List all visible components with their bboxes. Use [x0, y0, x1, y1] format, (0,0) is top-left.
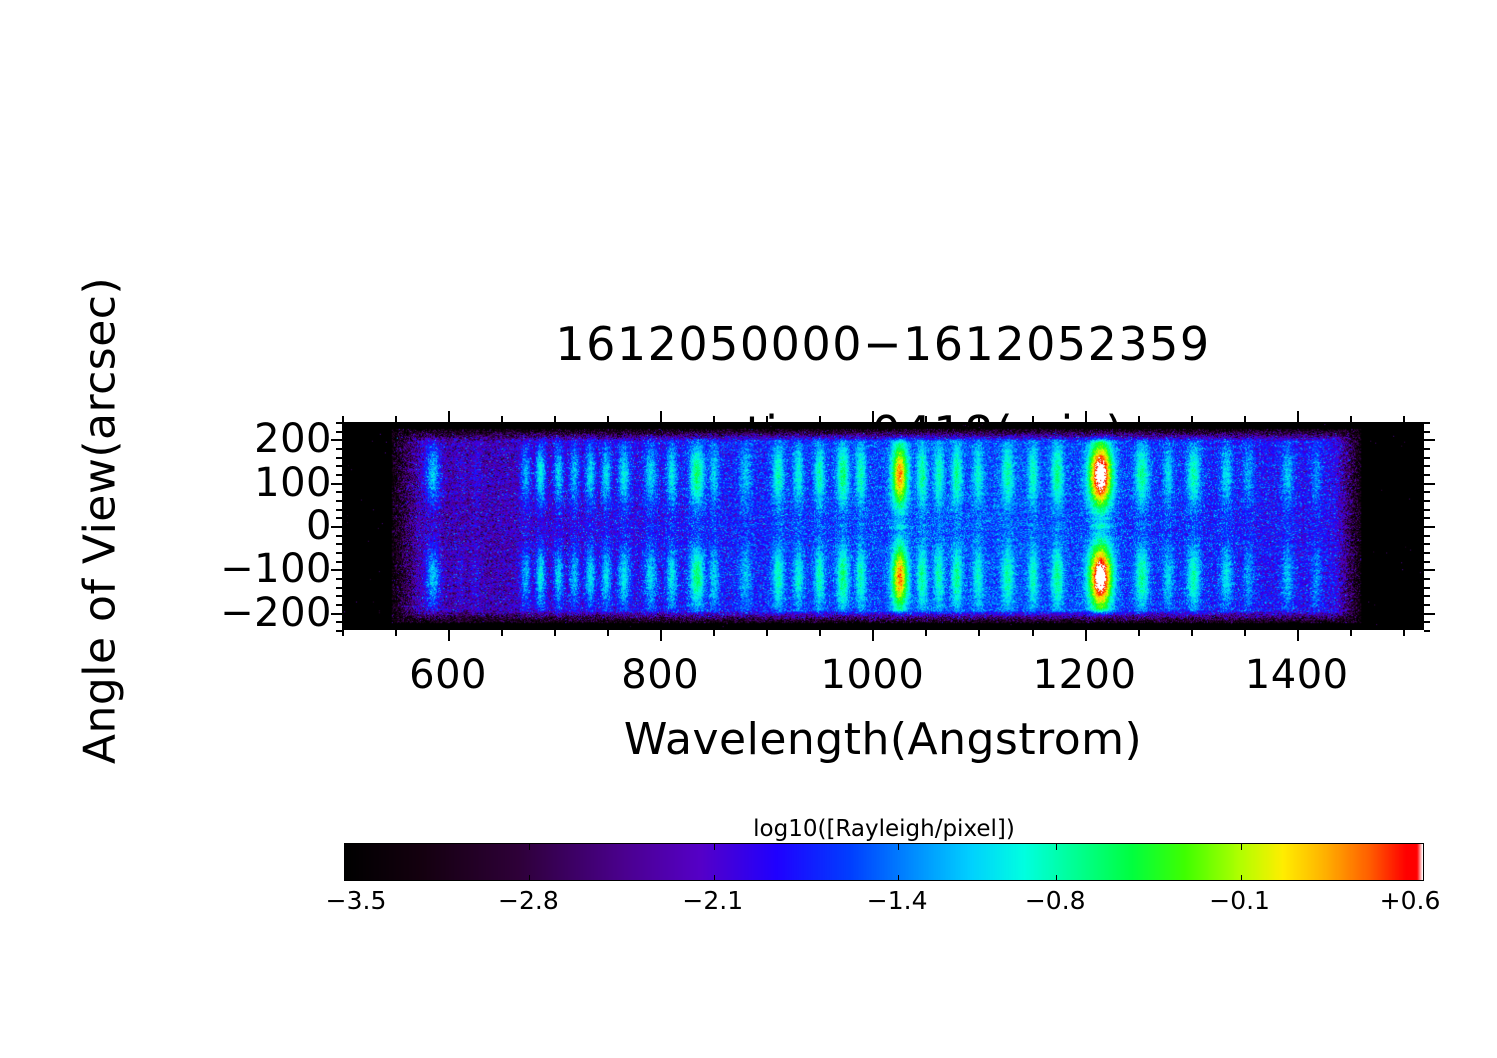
colorbar-tick-label: −1.4 — [867, 886, 928, 915]
x-major-tick — [448, 630, 450, 641]
colorbar-tick-mark — [714, 844, 715, 850]
y-minor-tick-right — [1424, 509, 1430, 511]
x-minor-tick — [766, 630, 768, 636]
y-minor-tick-right — [1424, 457, 1430, 459]
x-minor-tick — [713, 630, 715, 636]
colorbar-tick-label: −0.1 — [1209, 886, 1270, 915]
x-minor-tick — [501, 630, 503, 636]
x-minor-tick-top — [1138, 416, 1140, 422]
x-major-tick — [1085, 630, 1087, 641]
y-minor-tick — [336, 561, 342, 563]
colorbar-tick-label: +0.6 — [1380, 886, 1441, 915]
x-minor-tick-top — [1350, 416, 1352, 422]
colorbar-tick-label: −2.8 — [498, 886, 559, 915]
x-tick-label: 600 — [409, 652, 487, 698]
y-minor-tick-right — [1424, 552, 1430, 554]
colorbar-tick-labels: −3.5−2.8−2.1−1.4−0.8−0.1+0.6 — [344, 886, 1424, 920]
y-minor-tick — [336, 431, 342, 433]
x-minor-tick — [607, 630, 609, 636]
x-major-tick-top — [1297, 411, 1299, 422]
y-minor-tick — [336, 578, 342, 580]
x-minor-tick-top — [1403, 416, 1405, 422]
y-minor-tick — [336, 422, 342, 424]
colorbar-tick-mark — [1056, 875, 1057, 881]
x-minor-tick-top — [607, 416, 609, 422]
y-major-tick — [331, 569, 342, 571]
y-axis-tick-labels: 2001000−100−200 — [180, 422, 332, 630]
y-minor-tick — [336, 500, 342, 502]
x-minor-tick — [395, 630, 397, 636]
y-minor-tick-right — [1424, 604, 1430, 606]
y-minor-tick-right — [1424, 578, 1430, 580]
x-major-tick — [660, 630, 662, 641]
y-minor-tick-right — [1424, 474, 1430, 476]
y-minor-tick-right — [1424, 491, 1430, 493]
colorbar-tick-mark — [1241, 875, 1242, 881]
y-minor-tick-right — [1424, 561, 1430, 563]
x-minor-tick-top — [978, 416, 980, 422]
x-minor-tick-top — [1191, 416, 1193, 422]
x-minor-tick-top — [819, 416, 821, 422]
y-minor-tick — [336, 474, 342, 476]
x-minor-tick — [1403, 630, 1405, 636]
colorbar-tick-label: −2.1 — [682, 886, 743, 915]
x-tick-label: 1400 — [1245, 652, 1349, 698]
y-tick-label: −200 — [220, 590, 332, 636]
x-major-tick-top — [660, 411, 662, 422]
y-major-tick-right — [1424, 569, 1435, 571]
colorbar-tick-label: −0.8 — [1025, 886, 1086, 915]
y-major-tick — [331, 439, 342, 441]
y-minor-tick-right — [1424, 422, 1430, 424]
y-minor-tick-right — [1424, 431, 1430, 433]
x-tick-label: 800 — [621, 652, 699, 698]
y-minor-tick-right — [1424, 630, 1430, 632]
y-minor-tick — [336, 587, 342, 589]
x-tick-label: 1000 — [820, 652, 924, 698]
colorbar-tick-mark — [529, 875, 530, 881]
y-tick-label: 0 — [306, 503, 332, 549]
x-minor-tick — [342, 630, 344, 636]
y-minor-tick-right — [1424, 621, 1430, 623]
x-major-tick — [872, 630, 874, 641]
colorbar — [344, 843, 1424, 881]
y-major-tick — [331, 526, 342, 528]
x-minor-tick — [1244, 630, 1246, 636]
spectrogram-figure: 1612050000−1612052359 exp time 0418(min)… — [0, 0, 1497, 1058]
y-major-tick — [331, 613, 342, 615]
x-major-tick-top — [872, 411, 874, 422]
colorbar-tick-label: −3.5 — [326, 886, 387, 915]
y-major-tick-right — [1424, 483, 1435, 485]
x-minor-tick-top — [395, 416, 397, 422]
colorbar-tick-mark — [714, 875, 715, 881]
x-major-tick-top — [1085, 411, 1087, 422]
colorbar-tick-mark — [529, 844, 530, 850]
x-minor-tick — [1350, 630, 1352, 636]
y-minor-tick — [336, 517, 342, 519]
spectrogram-plot-area — [342, 422, 1424, 630]
y-minor-tick-right — [1424, 587, 1430, 589]
x-major-tick — [1297, 630, 1299, 641]
x-minor-tick-top — [342, 416, 344, 422]
x-axis-title: Wavelength(Angstrom) — [342, 714, 1424, 765]
x-minor-tick — [1138, 630, 1140, 636]
x-minor-tick-top — [925, 416, 927, 422]
x-minor-tick-top — [554, 416, 556, 422]
x-minor-tick-top — [713, 416, 715, 422]
x-minor-tick — [925, 630, 927, 636]
y-minor-tick — [336, 491, 342, 493]
y-minor-tick-right — [1424, 595, 1430, 597]
y-tick-label: 200 — [254, 416, 332, 462]
colorbar-title: log10([Rayleigh/pixel]) — [344, 816, 1424, 842]
y-tick-label: 100 — [254, 460, 332, 506]
colorbar-gradient — [345, 844, 1423, 880]
y-minor-tick-right — [1424, 500, 1430, 502]
y-minor-tick — [336, 552, 342, 554]
spectrogram-image — [344, 424, 1422, 628]
y-minor-tick-right — [1424, 535, 1430, 537]
y-minor-tick — [336, 595, 342, 597]
y-minor-tick — [336, 457, 342, 459]
y-minor-tick — [336, 465, 342, 467]
y-major-tick-right — [1424, 613, 1435, 615]
y-tick-label: −100 — [220, 546, 332, 592]
x-minor-tick — [978, 630, 980, 636]
x-major-tick-top — [448, 411, 450, 422]
x-minor-tick — [819, 630, 821, 636]
x-minor-tick-top — [766, 416, 768, 422]
y-minor-tick — [336, 604, 342, 606]
y-axis-title: Angle of View(arcsec) — [75, 261, 126, 781]
title-line-observation-id: 1612050000−1612052359 — [342, 318, 1424, 370]
y-minor-tick — [336, 630, 342, 632]
x-minor-tick — [1191, 630, 1193, 636]
y-minor-tick-right — [1424, 465, 1430, 467]
y-minor-tick-right — [1424, 517, 1430, 519]
y-minor-tick — [336, 509, 342, 511]
y-major-tick — [331, 483, 342, 485]
x-minor-tick-top — [1244, 416, 1246, 422]
y-minor-tick — [336, 448, 342, 450]
colorbar-tick-mark — [898, 875, 899, 881]
y-major-tick-right — [1424, 526, 1435, 528]
y-major-tick-right — [1424, 439, 1435, 441]
colorbar-tick-mark — [898, 844, 899, 850]
colorbar-tick-mark — [1241, 844, 1242, 850]
x-minor-tick-top — [501, 416, 503, 422]
y-minor-tick — [336, 535, 342, 537]
x-minor-tick-top — [1032, 416, 1034, 422]
y-minor-tick-right — [1424, 448, 1430, 450]
y-minor-tick-right — [1424, 543, 1430, 545]
colorbar-tick-mark — [1056, 844, 1057, 850]
x-minor-tick — [1032, 630, 1034, 636]
x-minor-tick — [554, 630, 556, 636]
y-minor-tick — [336, 543, 342, 545]
x-tick-label: 1200 — [1033, 652, 1137, 698]
y-minor-tick — [336, 621, 342, 623]
